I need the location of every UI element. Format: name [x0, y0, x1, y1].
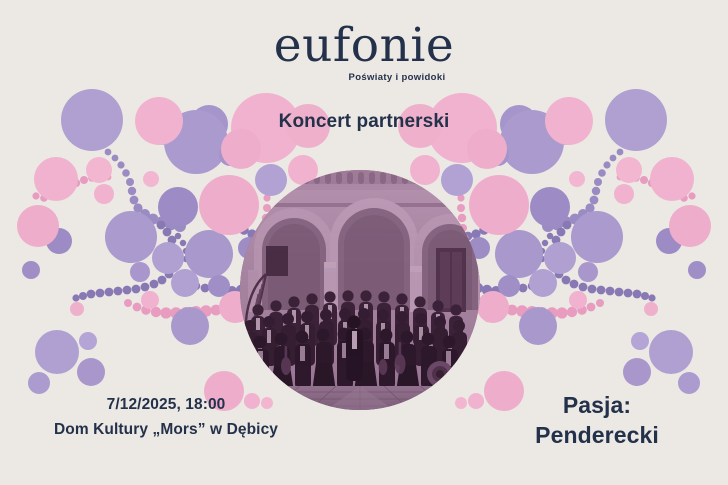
logo-wordmark-text: eufonie — [274, 18, 454, 73]
event-datetime: 7/12/2025, 18:00 — [18, 396, 314, 414]
event-details: 7/12/2025, 18:00 Dom Kultury „Mors” w Dę… — [18, 396, 314, 439]
logo-wordmark: eufonie — [0, 22, 728, 69]
programme-line-2: Penderecki — [482, 420, 712, 450]
programme-line-1: Pasja: — [482, 390, 712, 420]
poster-canvas: eufonie Poświaty i powidoki Koncert part… — [0, 0, 728, 485]
logo-subtitle: Poświaty i powidoki — [0, 72, 728, 83]
photo-duotone-overlay — [240, 170, 480, 410]
orchestra-choir-group-photo — [240, 170, 480, 410]
page-title: Koncert partnerski — [0, 111, 728, 133]
eufonie-logo: eufonie Poświaty i powidoki — [0, 22, 728, 83]
event-venue: Dom Kultury „Mors” w Dębicy — [18, 421, 314, 439]
programme-title: Pasja: Penderecki — [482, 390, 712, 451]
